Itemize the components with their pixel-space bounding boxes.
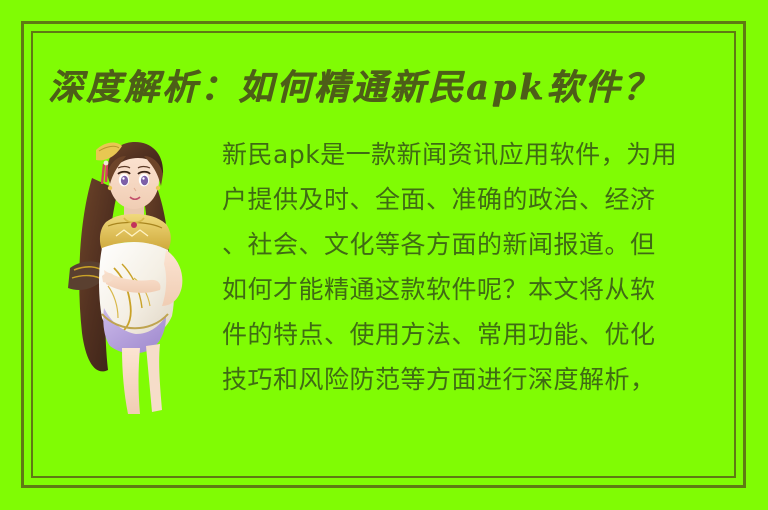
body-paragraph: 新民apk是一款新闻资讯应用软件，为用 户提供及时、全面、准确的政治、经济 、社… — [222, 132, 730, 402]
red-tassel — [102, 164, 107, 184]
left-earring — [108, 186, 112, 190]
body-line: 户提供及时、全面、准确的政治、经济 — [222, 177, 730, 222]
right-leg — [146, 344, 162, 412]
right-earring — [156, 186, 160, 190]
anime-girl-illustration — [62, 118, 222, 418]
body-line: 件的特点、使用方法、常用功能、优化 — [222, 312, 730, 357]
page-title: 深度解析：如何精通新民apk软件？ — [48, 62, 688, 114]
tassel-bead — [104, 161, 109, 166]
body-line: 如何才能精通这款软件呢？本文将从软 — [222, 267, 730, 312]
left-leg — [122, 348, 140, 414]
right-iris — [141, 176, 148, 186]
left-eye-highlight — [122, 177, 124, 179]
body-line: 技巧和风险防范等方面进行深度解析， — [222, 357, 730, 402]
pendant-gem — [131, 222, 137, 228]
left-iris — [121, 176, 128, 186]
poster-canvas: 深度解析：如何精通新民apk软件？ 新民apk是一款新闻资讯应用软件，为用 户提… — [0, 0, 768, 510]
right-eye-highlight — [142, 177, 144, 179]
body-line: 、社会、文化等各方面的新闻报道。但 — [222, 222, 730, 267]
body-line: 新民apk是一款新闻资讯应用软件，为用 — [222, 132, 730, 177]
